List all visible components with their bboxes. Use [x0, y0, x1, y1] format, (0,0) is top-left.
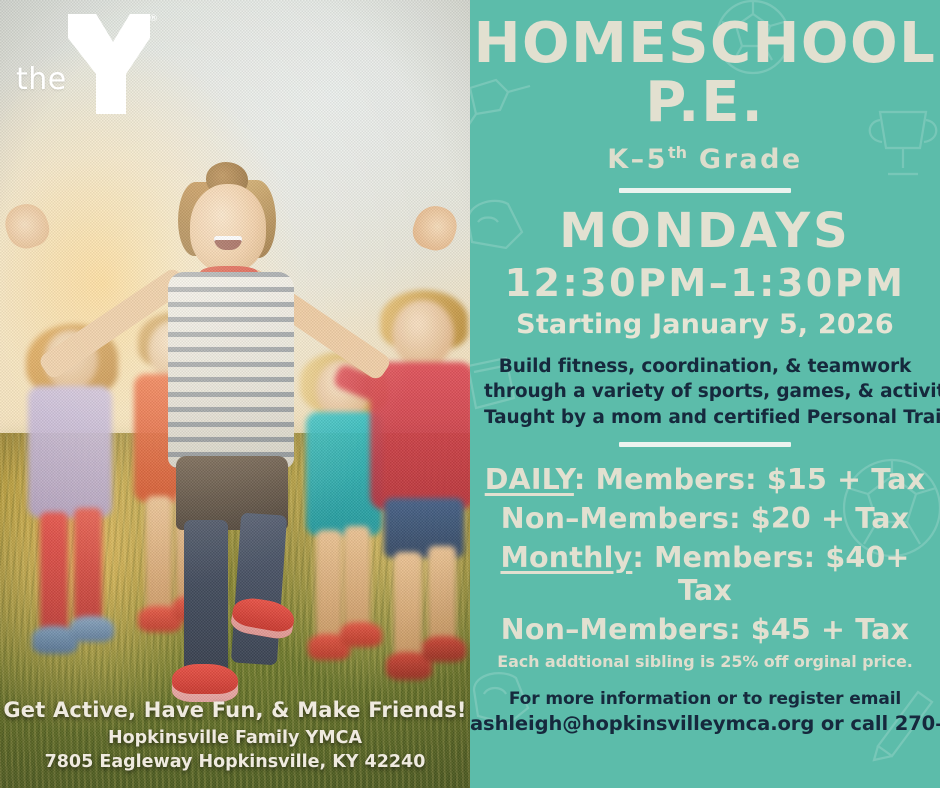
child-torso	[370, 362, 470, 510]
child-head	[190, 184, 266, 272]
child-torso	[28, 386, 112, 518]
price-daily-non-members: Non–Members: $20 + Tax	[470, 502, 940, 535]
info-panel: HOMESCHOOL P.E. K–5th Grade MONDAYS 12:3…	[470, 0, 940, 788]
description-line: Build fitness, coordination, & teamwork	[484, 354, 926, 380]
hero-child-figure	[128, 168, 338, 688]
grade-suffix: Grade	[699, 144, 803, 175]
child-striped-shirt	[168, 272, 294, 468]
child-leg	[74, 508, 102, 624]
grade-prefix: K–5	[607, 144, 668, 175]
program-description: Build fitness, coordination, & teamwork …	[484, 354, 926, 431]
contact-block: For more information or to register emai…	[470, 689, 940, 735]
child-leg	[428, 546, 456, 646]
page-title-line2: P.E.	[470, 74, 940, 133]
child-leg	[394, 552, 422, 660]
price-monthly-non-members: Non–Members: $45 + Tax	[470, 613, 940, 646]
registered-trademark-icon: ®	[149, 14, 158, 24]
contact-email-phone: ashleigh@hopkinsvilleymca.org or call 27…	[470, 712, 940, 735]
grade-superscript: th	[668, 143, 687, 162]
child-shoe	[70, 616, 114, 642]
price-daily-value: : Members: $15 + Tax	[574, 463, 925, 496]
photo-caption-block: Get Active, Have Fun, & Make Friends! Ho…	[0, 698, 470, 772]
child-leg	[231, 513, 287, 666]
divider-rule-top	[619, 188, 791, 193]
description-line: Taught by a mom and certified Personal T…	[484, 405, 926, 431]
schedule-time: 12:30PM–1:30PM	[470, 261, 940, 305]
schedule-day: MONDAYS	[470, 203, 940, 259]
grade-range: K–5th Grade	[470, 143, 940, 175]
price-monthly-value: : Members: $40+ Tax	[632, 541, 909, 607]
description-line: through a variety of sports, games, & ac…	[484, 379, 926, 405]
price-monthly-label: Monthly	[500, 541, 632, 574]
caption-organization: Hopkinsville Family YMCA	[0, 728, 470, 748]
child-head	[392, 300, 454, 368]
flyer-poster: the ® YMCA Get Active, Have Fun, & Make …	[0, 0, 940, 788]
price-daily-members: DAILY: Members: $15 + Tax	[470, 463, 940, 496]
caption-headline: Get Active, Have Fun, & Make Friends!	[0, 698, 470, 722]
logo-ymca-text: YMCA	[96, 66, 110, 113]
logo-the-text: the	[16, 62, 67, 97]
sibling-discount-note: Each addtional sibling is 25% off orgina…	[470, 652, 940, 671]
child-leg	[184, 520, 228, 680]
divider-rule-bottom	[619, 442, 791, 447]
photo-panel: the ® YMCA Get Active, Have Fun, & Make …	[0, 0, 470, 788]
price-daily-label: DAILY	[485, 463, 574, 496]
page-title-line1: HOMESCHOOL	[470, 16, 940, 72]
child-leg	[40, 512, 68, 634]
child-shoe	[422, 636, 466, 662]
price-monthly-members: Monthly: Members: $40+ Tax	[470, 541, 940, 607]
contact-instruction: For more information or to register emai…	[470, 689, 940, 709]
child-figure	[10, 330, 130, 730]
ymca-logo: the ® YMCA	[14, 10, 160, 120]
child-shoe	[172, 664, 238, 702]
info-content: HOMESCHOOL P.E. K–5th Grade MONDAYS 12:3…	[470, 16, 940, 735]
caption-address: 7805 Eagleway Hopkinsville, KY 42240	[0, 752, 470, 772]
start-date: Starting January 5, 2026	[470, 309, 940, 340]
